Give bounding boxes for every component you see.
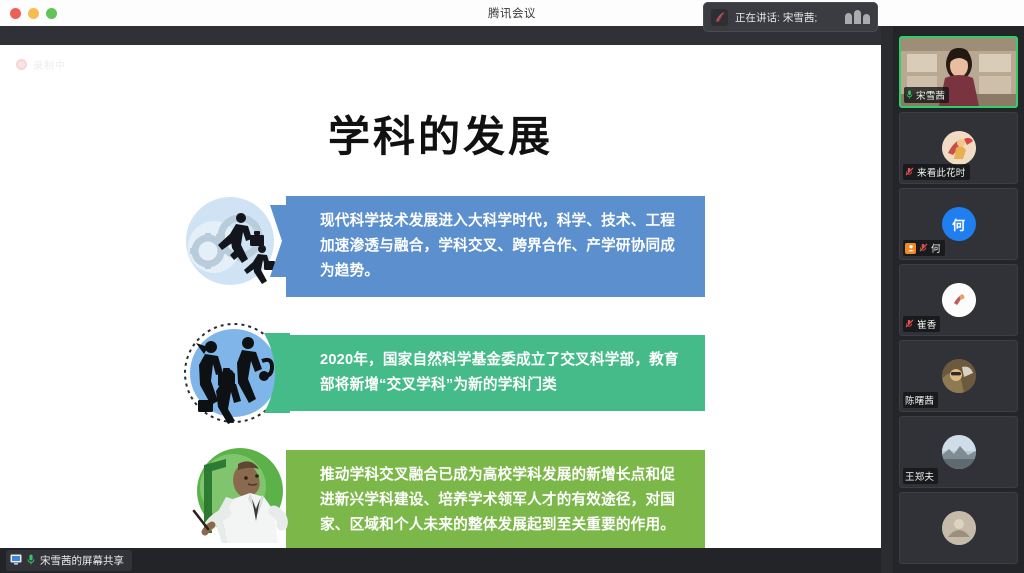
avatar-initial: 何 [952, 215, 965, 234]
recording-indicator: 录制中 [16, 57, 66, 72]
participant-nametag: 陈曙茜 [903, 392, 938, 408]
avatar [942, 283, 976, 317]
participant-nametag: 宋雪茜 [904, 87, 949, 103]
participant-tile[interactable]: 宋雪茜 [899, 36, 1018, 108]
participant-tile[interactable]: 何 何 [899, 188, 1018, 260]
avatar [942, 435, 976, 469]
slide-block-2: 2020年，国家自然科学基金委成立了交叉科学部，教育部将新增“交叉学科”为新的学… [178, 317, 705, 429]
meeting-window: 腾讯会议 正在讲话: 宋雪茜; 录制中 学科的发展 [0, 0, 1024, 573]
participant-nametag: 何 [903, 240, 945, 256]
avatar [942, 511, 976, 545]
slide-title: 学科的发展 [0, 103, 881, 164]
businessmen-running-gears-illustration [178, 185, 290, 297]
audio-wave-icon [845, 10, 870, 24]
screen-share-label: 宋雪茜的屏幕共享 [40, 553, 124, 568]
shared-screen-slide[interactable]: 录制中 学科的发展 [0, 45, 881, 548]
speaker-avatar-icon [711, 9, 728, 26]
microphone-muted-icon [919, 243, 928, 254]
active-speaker-indicator[interactable]: 正在讲话: 宋雪茜; [703, 2, 878, 32]
slide-block-2-text: 2020年，国家自然科学基金委成立了交叉科学部，教育部将新增“交叉学科”为新的学… [286, 335, 705, 411]
avatar [942, 359, 976, 393]
crowd-silhouette-illustration [178, 317, 290, 429]
microphone-muted-icon [905, 167, 914, 178]
recording-label: 录制中 [33, 57, 66, 72]
participant-nametag: 王郑夫 [903, 468, 938, 484]
slide-block-3: 推动学科交叉融合已成为高校学科发展的新增长点和促进新兴学科建设、培养学术领军人才… [178, 437, 705, 548]
slide-block-1-text: 现代科学技术发展进入大科学时代，科学、技术、工程加速渗透与融合，学科交叉、跨界合… [286, 196, 705, 297]
participant-tile[interactable]: 王郑夫 [899, 416, 1018, 488]
participant-tile[interactable]: 陈曙茜 [899, 340, 1018, 412]
participant-name: 王郑夫 [905, 469, 934, 483]
participant-name: 陈曙茜 [905, 393, 934, 407]
participant-sidebar[interactable]: 宋雪茜 来看此花时 [893, 26, 1024, 573]
layout-gutter [881, 26, 893, 573]
participant-tile[interactable]: 崔香 [899, 264, 1018, 336]
slide-block-3-text: 推动学科交叉融合已成为高校学科发展的新增长点和促进新兴学科建设、培养学术领军人才… [286, 450, 705, 548]
microphone-icon [906, 90, 913, 101]
screen-share-status[interactable]: 宋雪茜的屏幕共享 [6, 550, 132, 571]
avatar [942, 131, 976, 165]
avatar: 何 [942, 207, 976, 241]
screen-share-icon [10, 554, 22, 568]
participant-nametag: 来看此花时 [903, 164, 970, 180]
microphone-muted-icon [905, 319, 914, 330]
active-speaker-label: 正在讲话: 宋雪茜; [735, 10, 817, 25]
participant-tile[interactable]: 来看此花时 [899, 112, 1018, 184]
participant-name: 何 [931, 241, 941, 255]
record-dot-icon [16, 59, 27, 70]
bottom-status-bar: 宋雪茜的屏幕共享 [0, 548, 893, 573]
professor-pointing-illustration [178, 437, 290, 548]
slide-block-1: 现代科学技术发展进入大科学时代，科学、技术、工程加速渗透与融合，学科交叉、跨界合… [178, 185, 705, 297]
participant-nametag: 崔香 [903, 316, 940, 332]
microphone-icon [27, 554, 35, 568]
participant-tile[interactable] [899, 492, 1018, 564]
host-badge-icon [905, 243, 916, 254]
participant-name: 崔香 [917, 317, 936, 331]
participant-name: 宋雪茜 [916, 88, 945, 102]
participant-name: 来看此花时 [917, 165, 966, 179]
